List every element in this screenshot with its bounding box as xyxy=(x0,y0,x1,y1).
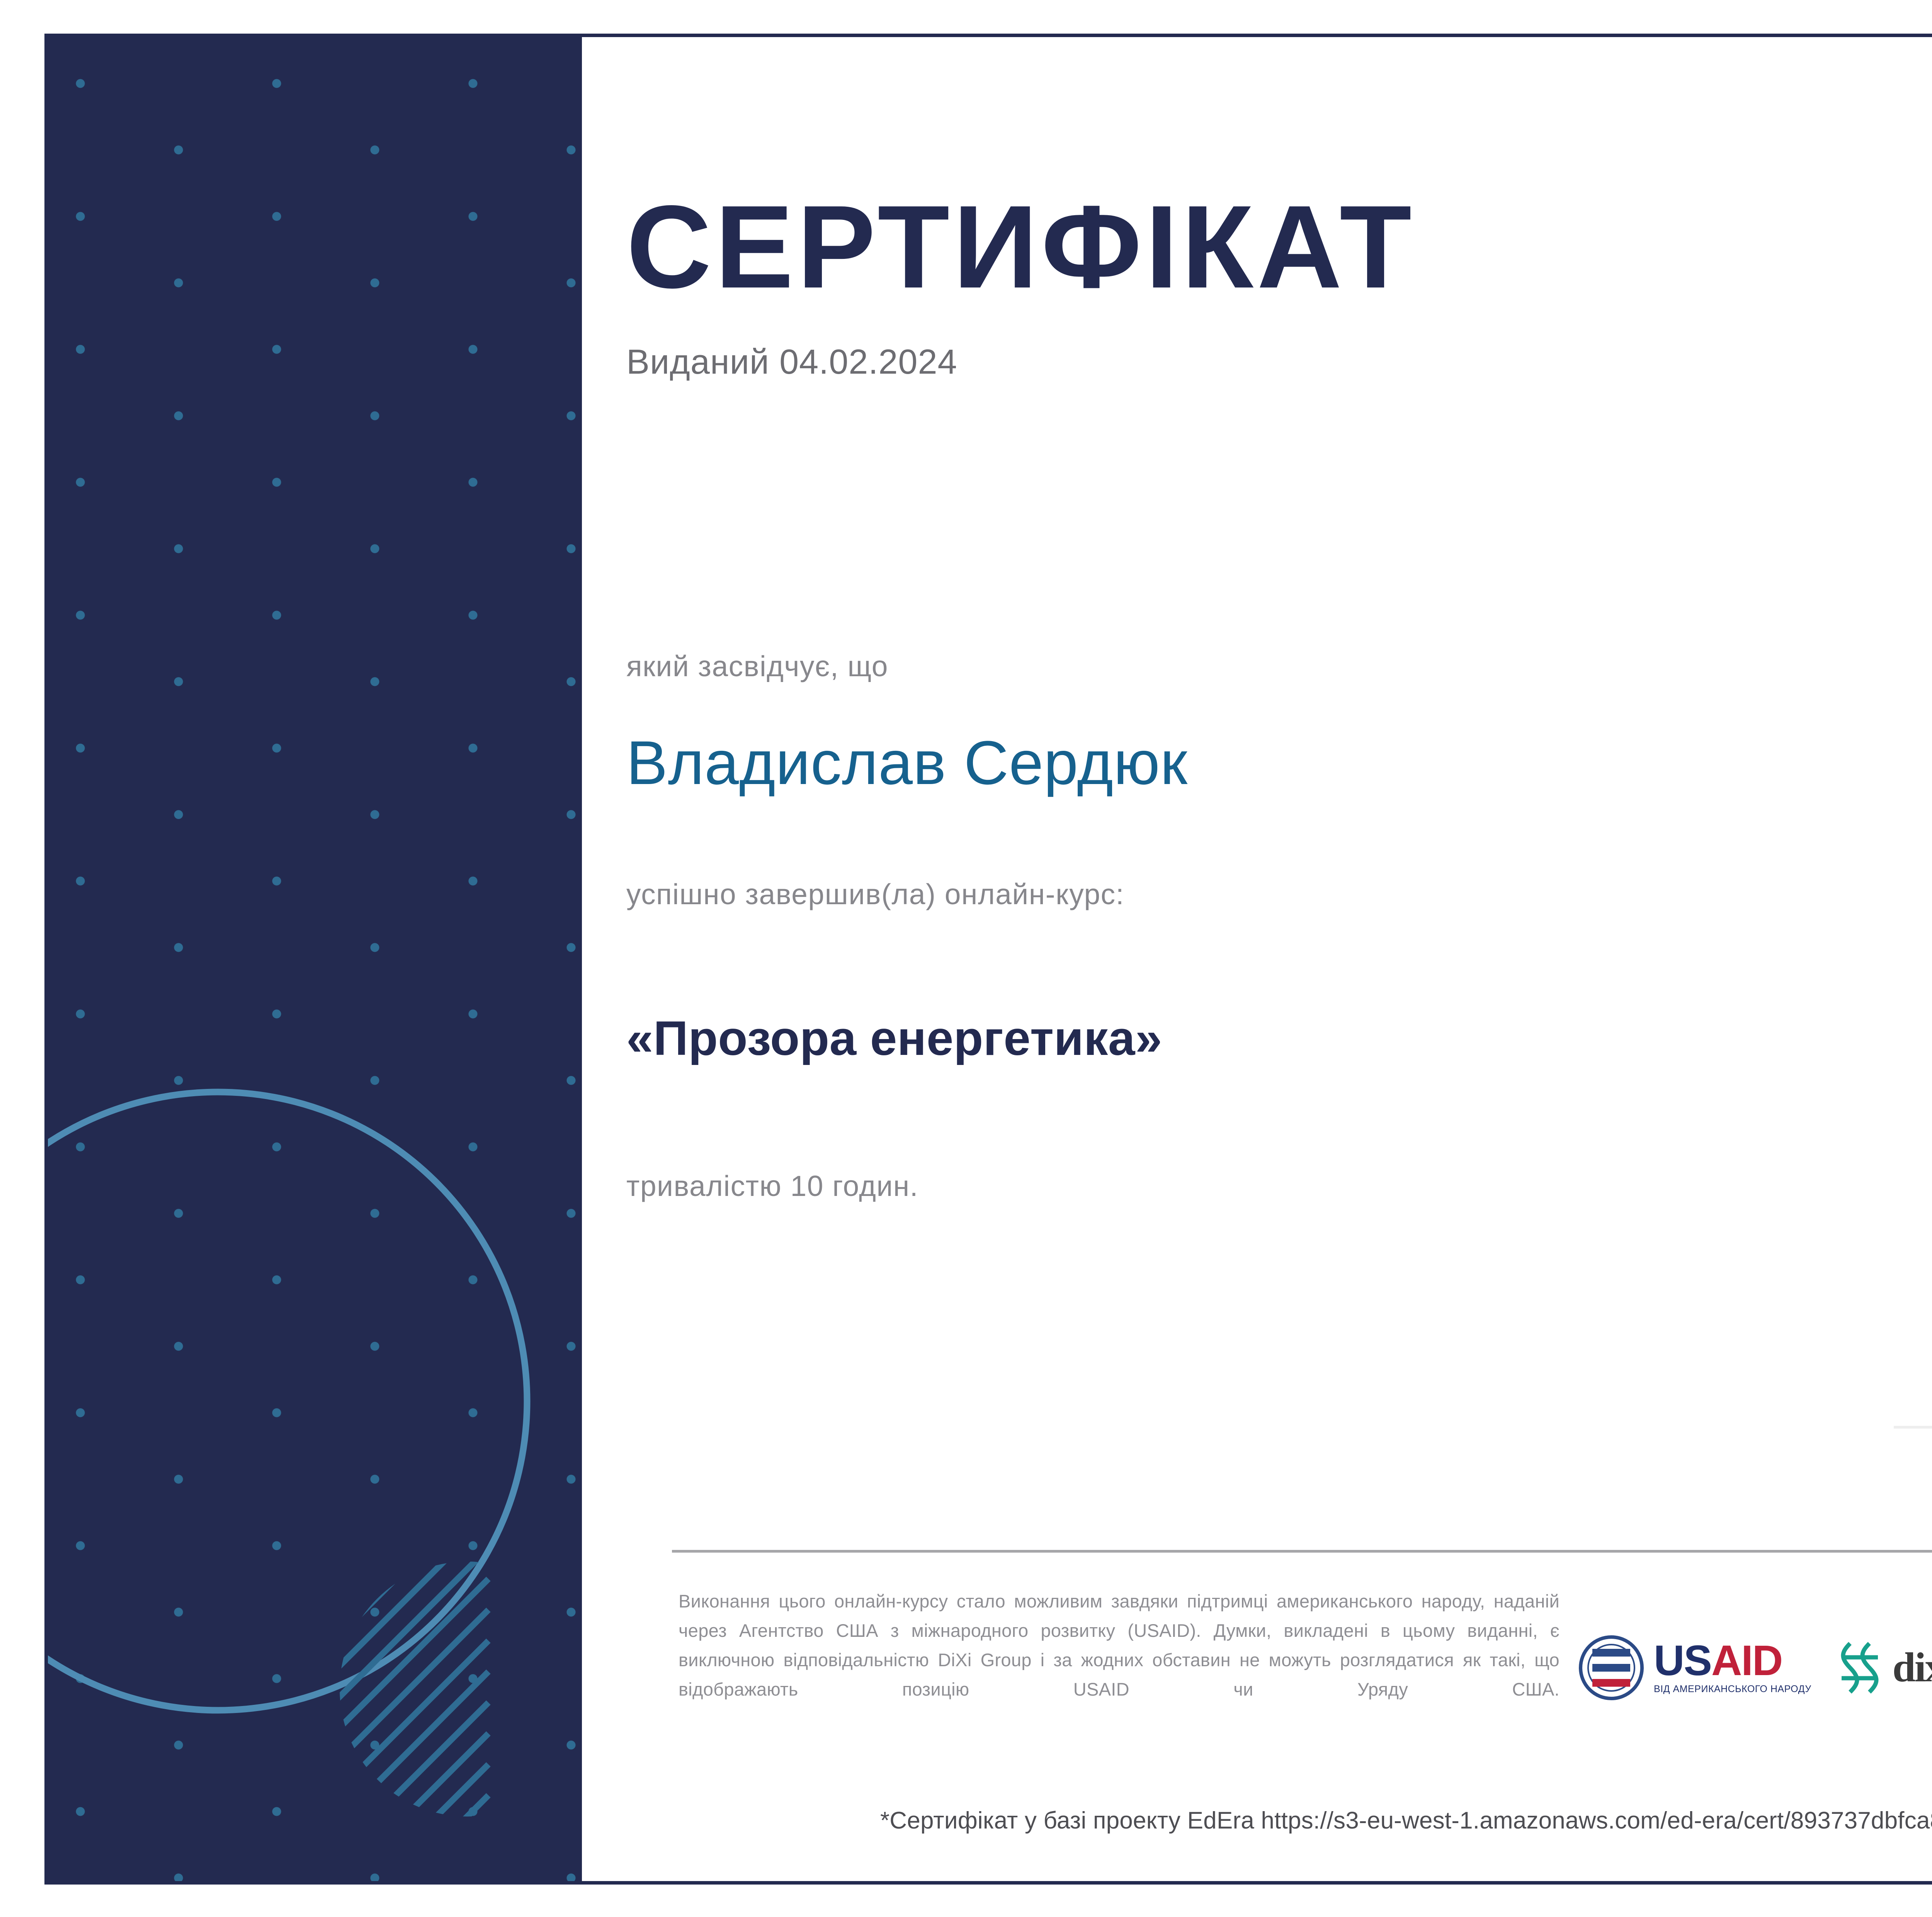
verification-url-note: *Сертифікат у базі проекту EdEra https:/… xyxy=(672,1807,1932,1834)
course-title: «Прозора енергетика» xyxy=(626,1011,1932,1066)
usaid-logo: USAID ВІД АМЕРИКАНСЬКОГО НАРОДУ xyxy=(1579,1635,1811,1700)
dixigroup-wordmark: dixigroup xyxy=(1893,1647,1932,1689)
signature-line xyxy=(1894,1426,1932,1429)
attestation-line: який засвідчує, що xyxy=(626,650,1932,683)
hatched-circle-pattern xyxy=(334,1556,582,1822)
dixi-word: dixi xyxy=(1893,1645,1932,1691)
usaid-word-aid: AID xyxy=(1711,1637,1782,1684)
decorative-side-panel xyxy=(48,37,582,1881)
usaid-tagline: ВІД АМЕРИКАНСЬКОГО НАРОДУ xyxy=(1654,1684,1811,1695)
signature-block xyxy=(1869,1204,1932,1366)
handwritten-signature-icon xyxy=(1869,1204,1932,1366)
certificate-card: СЕРТИФІКАТ Виданий 04.02.2024 який засві… xyxy=(44,34,1932,1885)
partner-logos: USAID ВІД АМЕРИКАНСЬКОГО НАРОДУ xyxy=(1579,1621,1932,1714)
signer-identity: Олена Павленко, Президент DiXi Group xyxy=(1869,1455,1932,1514)
usaid-wordmark: USAID xyxy=(1654,1641,1811,1681)
issue-date-label: Виданий 04.02.2024 xyxy=(626,342,1932,382)
completion-line: успішно завершив(ла) онлайн-курс: xyxy=(626,878,1932,911)
dixigroup-logo: dixigroup ANALYTICS ON DUTY xyxy=(1835,1639,1932,1697)
page-title: СЕРТИФІКАТ xyxy=(626,188,1932,306)
footer-divider xyxy=(672,1550,1932,1553)
signer-title: Президент DiXi Group xyxy=(1869,1485,1932,1515)
signer-name: Олена Павленко, xyxy=(1869,1455,1932,1485)
usaid-seal-icon xyxy=(1579,1635,1644,1700)
disclaimer-text: Виконання цього онлайн-курсу стало можли… xyxy=(679,1587,1560,1704)
certificate-content: СЕРТИФІКАТ Виданий 04.02.2024 який засві… xyxy=(582,37,1932,1881)
recipient-name: Владислав Сердюк xyxy=(626,729,1932,797)
dixi-mark-icon xyxy=(1835,1639,1885,1697)
usaid-word-us: US xyxy=(1654,1637,1711,1684)
course-duration: тривалістю 10 годин. xyxy=(626,1169,1932,1203)
